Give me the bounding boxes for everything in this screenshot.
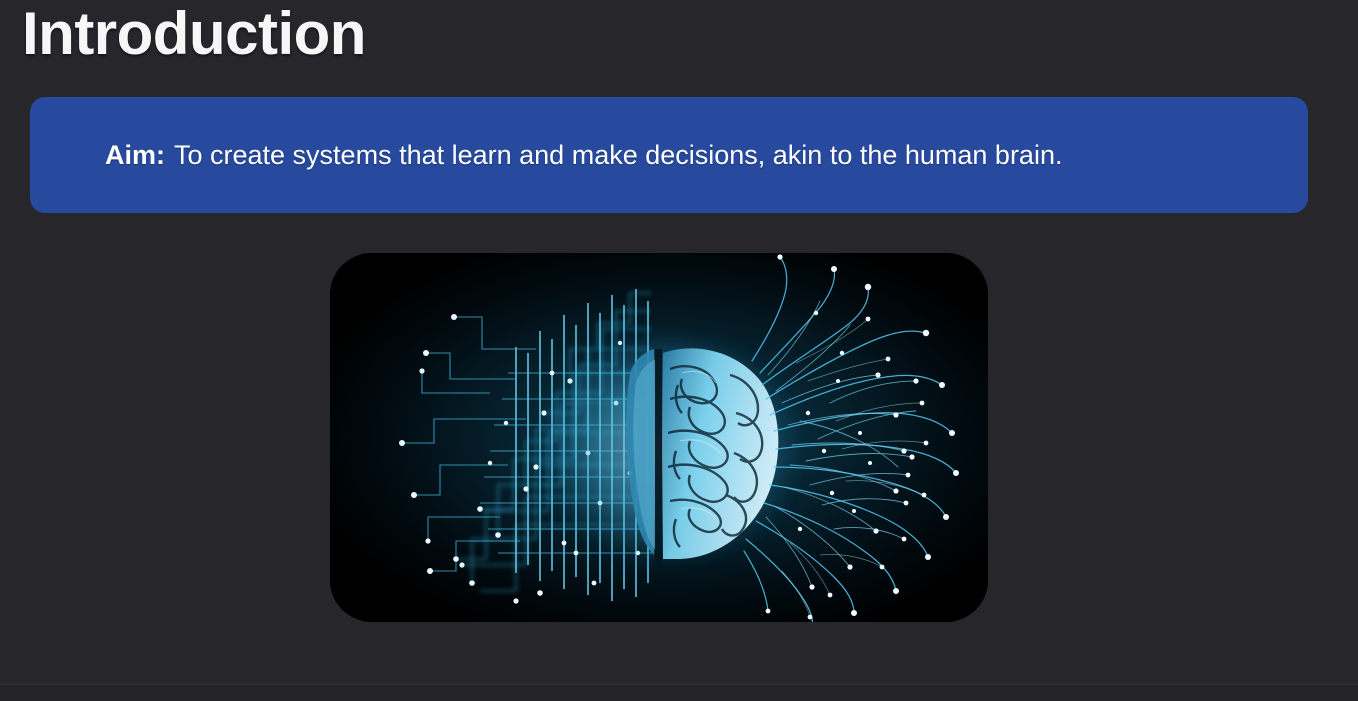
aim-text: Aim: To create systems that learn and ma… — [105, 97, 1062, 213]
aim-label: Aim: — [105, 138, 165, 172]
slide-page: Introduction Aim: To create systems that… — [0, 0, 1358, 701]
bottom-strip — [0, 685, 1358, 701]
figure-card — [330, 253, 988, 622]
aim-body-text: To create systems that learn and make de… — [174, 138, 1062, 172]
page-title: Introduction — [22, 0, 366, 68]
ai-brain-circuit-neural-image — [330, 253, 988, 622]
aim-callout-banner: Aim: To create systems that learn and ma… — [30, 97, 1308, 213]
